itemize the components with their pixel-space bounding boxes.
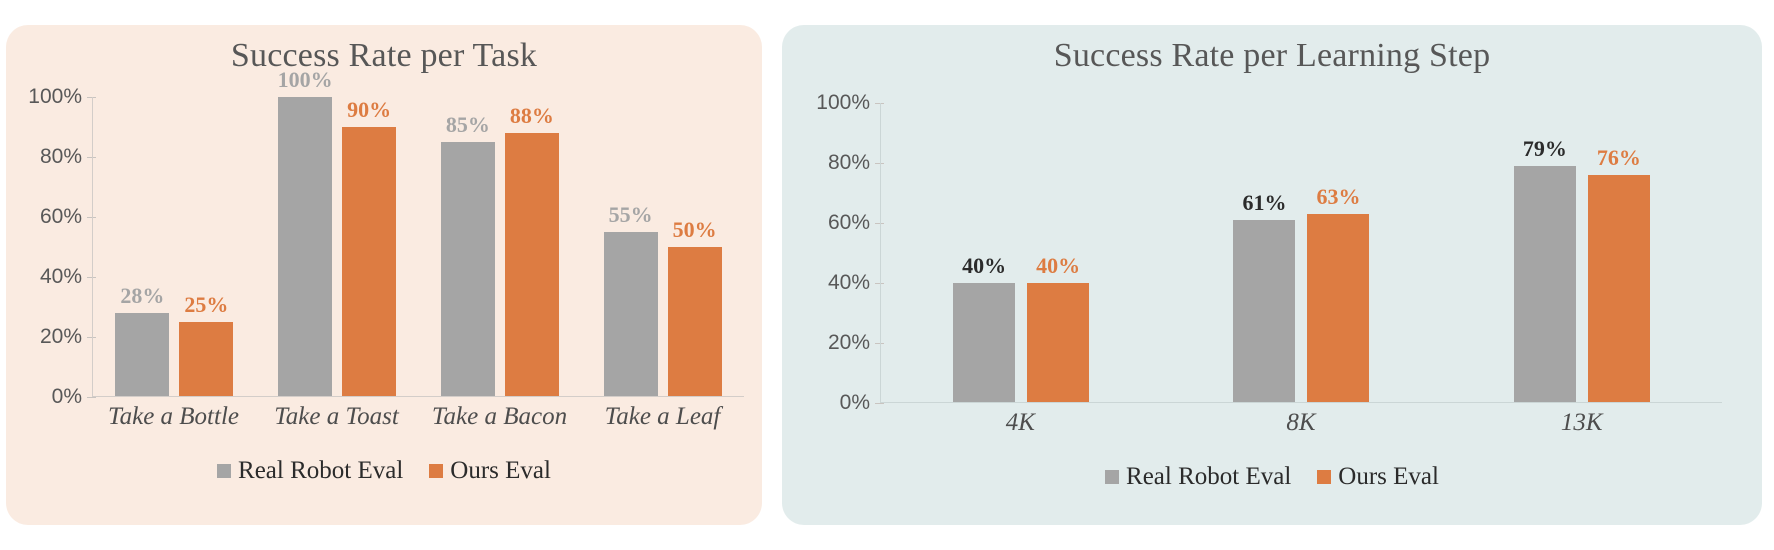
figure-root: Success Rate per Task 100% 80% 60% 40% 2…: [0, 0, 1774, 550]
y-tick-20: 20%: [828, 331, 870, 355]
legend-item-ours-eval[interactable]: Ours Eval: [429, 457, 551, 485]
y-tick-100: 100%: [816, 91, 870, 115]
y-axis-left: 100% 80% 60% 40% 20% 0%: [18, 97, 92, 397]
bar-orange[interactable]: 63%: [1307, 214, 1369, 403]
plot-area-right: 100% 80% 60% 40% 20% 0% 40% 40% 61% 63%: [806, 103, 1722, 403]
legend-item-ours-eval[interactable]: Ours Eval: [1317, 463, 1439, 491]
bar-value-label: 85%: [446, 112, 490, 138]
bars-plot-left: 28% 25% 100% 90% 85% 88% 55% 50%: [92, 97, 744, 397]
legend-item-real-robot-eval[interactable]: Real Robot Eval: [217, 457, 403, 485]
y-tick-40: 40%: [40, 265, 82, 289]
bar-orange[interactable]: 25%: [179, 322, 233, 397]
bar-value-label: 28%: [120, 283, 164, 309]
legend-label: Ours Eval: [1338, 463, 1439, 491]
category-label: Take a Leaf: [581, 403, 744, 431]
bar-gray[interactable]: 55%: [604, 232, 658, 397]
legend-swatch-orange-icon: [429, 464, 443, 478]
bar-groups-left: 28% 25% 100% 90% 85% 88% 55% 50%: [93, 97, 744, 397]
x-axis-categories-right: 4K 8K 13K: [880, 409, 1722, 437]
bar-group-take-a-leaf: 55% 50%: [581, 97, 744, 397]
x-axis-baseline-right: [881, 402, 1722, 403]
bar-value-label: 55%: [609, 202, 653, 228]
y-tick-0: 0%: [840, 391, 870, 415]
chart-card-success-rate-per-learning-step: Success Rate per Learning Step 100% 80% …: [782, 25, 1762, 525]
bar-group-take-a-toast: 100% 90%: [256, 97, 419, 397]
legend-label: Real Robot Eval: [1126, 463, 1291, 491]
chart-card-success-rate-per-task: Success Rate per Task 100% 80% 60% 40% 2…: [6, 25, 762, 525]
category-label: 8K: [1161, 409, 1442, 437]
legend-left: Real Robot Eval Ours Eval: [6, 457, 762, 485]
bar-value-label: 100%: [278, 67, 333, 93]
bar-gray[interactable]: 85%: [441, 142, 495, 397]
bar-value-label: 79%: [1523, 136, 1567, 162]
bar-gray[interactable]: 28%: [115, 313, 169, 397]
bar-gray[interactable]: 100%: [278, 97, 332, 397]
bar-group-4k: 40% 40%: [881, 103, 1161, 403]
bar-orange[interactable]: 76%: [1588, 175, 1650, 403]
bar-groups-right: 40% 40% 61% 63% 79% 76%: [881, 103, 1722, 403]
category-label: 4K: [880, 409, 1161, 437]
bar-value-label: 50%: [673, 217, 717, 243]
y-tick-60: 60%: [40, 205, 82, 229]
bar-orange[interactable]: 40%: [1027, 283, 1089, 403]
y-tick-0: 0%: [52, 385, 82, 409]
category-label: Take a Bacon: [418, 403, 581, 431]
y-tick-100: 100%: [28, 85, 82, 109]
legend-item-real-robot-eval[interactable]: Real Robot Eval: [1105, 463, 1291, 491]
legend-right: Real Robot Eval Ours Eval: [782, 463, 1762, 491]
legend-label: Ours Eval: [450, 457, 551, 485]
bar-gray[interactable]: 79%: [1514, 166, 1576, 403]
chart-title-left: Success Rate per Task: [6, 25, 762, 75]
plot-area-left: 100% 80% 60% 40% 20% 0% 28% 25% 100% 90%: [18, 97, 744, 397]
y-tick-20: 20%: [40, 325, 82, 349]
bar-group-take-a-bacon: 85% 88%: [419, 97, 582, 397]
category-label: Take a Bottle: [92, 403, 255, 431]
bar-value-label: 40%: [1036, 253, 1080, 279]
legend-swatch-orange-icon: [1317, 470, 1331, 484]
bar-value-label: 25%: [184, 292, 228, 318]
bar-gray[interactable]: 61%: [1233, 220, 1295, 403]
bar-group-8k: 61% 63%: [1161, 103, 1441, 403]
y-tick-40: 40%: [828, 271, 870, 295]
bar-value-label: 61%: [1242, 190, 1286, 216]
bar-group-13k: 79% 76%: [1442, 103, 1722, 403]
x-axis-categories-left: Take a Bottle Take a Toast Take a Bacon …: [92, 403, 744, 431]
bar-value-label: 90%: [347, 97, 391, 123]
bar-orange[interactable]: 50%: [668, 247, 722, 397]
y-tick-80: 80%: [828, 151, 870, 175]
bar-value-label: 76%: [1597, 145, 1641, 171]
legend-swatch-gray-icon: [217, 464, 231, 478]
legend-swatch-gray-icon: [1105, 470, 1119, 484]
bar-value-label: 40%: [962, 253, 1006, 279]
bar-group-take-a-bottle: 28% 25%: [93, 97, 256, 397]
x-axis-baseline-left: [93, 396, 744, 397]
y-axis-right: 100% 80% 60% 40% 20% 0%: [806, 103, 880, 403]
bar-gray[interactable]: 40%: [953, 283, 1015, 403]
bar-value-label: 88%: [510, 103, 554, 129]
bars-plot-right: 40% 40% 61% 63% 79% 76%: [880, 103, 1722, 403]
bar-value-label: 63%: [1316, 184, 1360, 210]
y-tick-60: 60%: [828, 211, 870, 235]
category-label: 13K: [1441, 409, 1722, 437]
y-tick-dash: [875, 403, 884, 404]
chart-title-right: Success Rate per Learning Step: [782, 25, 1762, 75]
legend-label: Real Robot Eval: [238, 457, 403, 485]
bar-orange[interactable]: 90%: [342, 127, 396, 397]
y-tick-80: 80%: [40, 145, 82, 169]
bar-orange[interactable]: 88%: [505, 133, 559, 397]
y-tick-dash: [87, 397, 96, 398]
category-label: Take a Toast: [255, 403, 418, 431]
